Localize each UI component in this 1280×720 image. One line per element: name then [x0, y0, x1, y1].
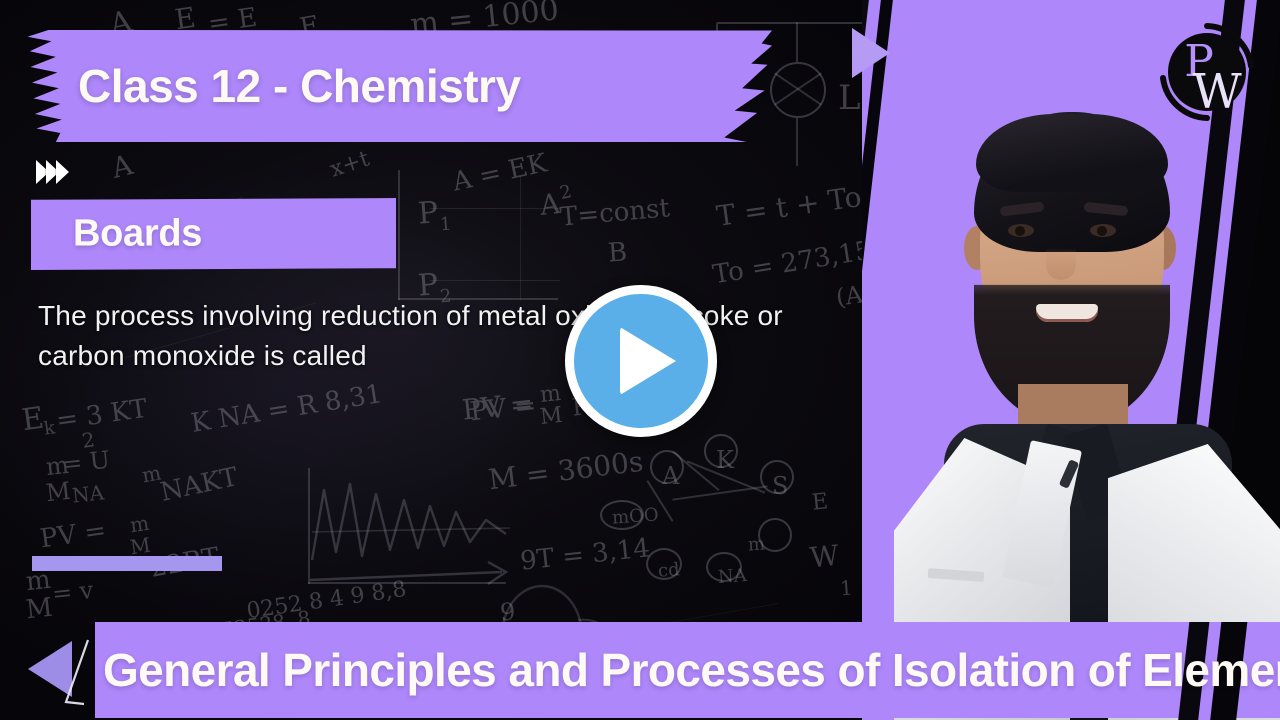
chalk-formula: m — [128, 511, 150, 537]
svg-text:W: W — [1192, 64, 1242, 120]
triangle-outline-icon — [58, 636, 92, 708]
chalk-formula: T = t + To — [714, 180, 863, 233]
chalk-formula: 9T = 3,14 — [519, 533, 652, 576]
category-tag-boards[interactable]: Boards — [31, 198, 396, 270]
lamp-cross-b — [774, 73, 822, 106]
node-link-3 — [646, 480, 673, 522]
chalk-formula: m — [45, 451, 71, 481]
category-tag-label: Boards — [73, 213, 202, 256]
triangle-right-icon — [852, 28, 890, 78]
chalk-formula: NAKT — [158, 462, 241, 508]
chalk-formula: P — [417, 195, 440, 231]
node-link-4 — [672, 485, 767, 500]
chalk-formula: M — [539, 403, 564, 430]
play-triangle-icon — [620, 327, 676, 395]
chalk-formula: A — [538, 187, 562, 222]
chapter-title-label: General Principles and Processes of Isol… — [103, 643, 1280, 697]
thumbnail-stage: AE= EFm = 1000mgLAx+tA = EK2P1AT=constBT… — [0, 0, 1280, 720]
chalk-formula: x+t — [327, 146, 372, 182]
graph-dash-c — [520, 176, 521, 300]
chalk-formula: 1 — [839, 576, 853, 601]
chalk-formula: 2 — [80, 427, 96, 453]
chalk-formula: M — [25, 593, 55, 626]
chevron-right-icon-3 — [56, 160, 69, 184]
chalk-formula: K — [716, 446, 734, 474]
chalk-formula: = 3 KT — [54, 394, 149, 436]
chalk-formula: = v — [51, 576, 95, 608]
pw-logo-icon: P W — [1155, 20, 1259, 124]
node-k-icon — [704, 434, 738, 468]
chalk-formula: = U — [61, 446, 112, 479]
chalk-formula: mOO — [611, 504, 659, 528]
chalk-formula: cd — [657, 559, 680, 581]
node-link-1 — [672, 451, 719, 491]
chevron-group — [36, 160, 69, 184]
chalk-formula: NA — [717, 565, 747, 588]
instructor-eye-right — [1090, 224, 1116, 237]
chalk-formula: (A — [834, 280, 864, 311]
chalk-formula: A = EK — [450, 148, 550, 197]
chalk-formula: PV = — [38, 516, 108, 555]
chalk-formula: A — [662, 462, 679, 490]
instructor-fringe — [976, 114, 1168, 192]
chalk-formula: B — [607, 237, 628, 268]
chalk-formula: m — [747, 533, 766, 555]
chalk-formula: L — [838, 78, 861, 118]
chalk-formula: K NA = R 8,31 — [189, 379, 385, 439]
node-link-2 — [687, 460, 766, 493]
graph-dash-a — [430, 208, 560, 209]
lamp-symbol-icon — [770, 62, 826, 118]
node-na-icon — [706, 552, 742, 582]
node-m2-icon — [758, 518, 792, 552]
instructor-eye-left — [1008, 224, 1034, 237]
play-button[interactable] — [565, 285, 717, 437]
chalk-formula: m — [539, 381, 562, 408]
pw-logo[interactable]: P W — [1155, 20, 1259, 124]
chalk-formula: k — [43, 417, 57, 439]
chalk-formula: 2 — [558, 181, 574, 204]
chalk-formula: PV = — [469, 391, 538, 428]
chalk-formula: T=const — [559, 193, 671, 232]
chalk-formula: NA — [71, 480, 105, 507]
circuit-wire-bottom — [796, 118, 798, 166]
chalk-formula: E — [20, 401, 47, 439]
chalk-formula: S — [772, 472, 788, 500]
node-a-icon — [650, 450, 684, 484]
instructor-mouth — [1036, 304, 1098, 322]
chapter-title-text-wrap: General Principles and Processes of Isol… — [95, 622, 1280, 718]
node-s-icon — [760, 460, 794, 494]
course-title-ribbon: Class 12 - Chemistry — [26, 30, 772, 142]
chalk-formula: To = 273,15 — [711, 236, 874, 291]
circuit-wire-top — [796, 22, 798, 62]
chalk-formula: A — [108, 148, 136, 185]
node-m-icon — [600, 500, 644, 530]
course-title-label: Class 12 - Chemistry — [78, 59, 521, 113]
chalk-formula: 1 — [439, 214, 452, 236]
node-cd-icon — [646, 548, 682, 580]
chalk-formula: m — [140, 461, 163, 488]
instructor-nose — [1046, 238, 1076, 280]
chalk-formula: PV = — [460, 386, 534, 426]
chalk-formula: W — [808, 539, 840, 575]
chalk-formula: M — [45, 477, 72, 507]
lamp-cross-a — [774, 73, 822, 106]
graph-axis-y — [398, 170, 400, 300]
purple-underline-bar — [32, 556, 222, 571]
graph-dash-b — [430, 280, 560, 281]
chalk-formula: E — [811, 489, 830, 516]
